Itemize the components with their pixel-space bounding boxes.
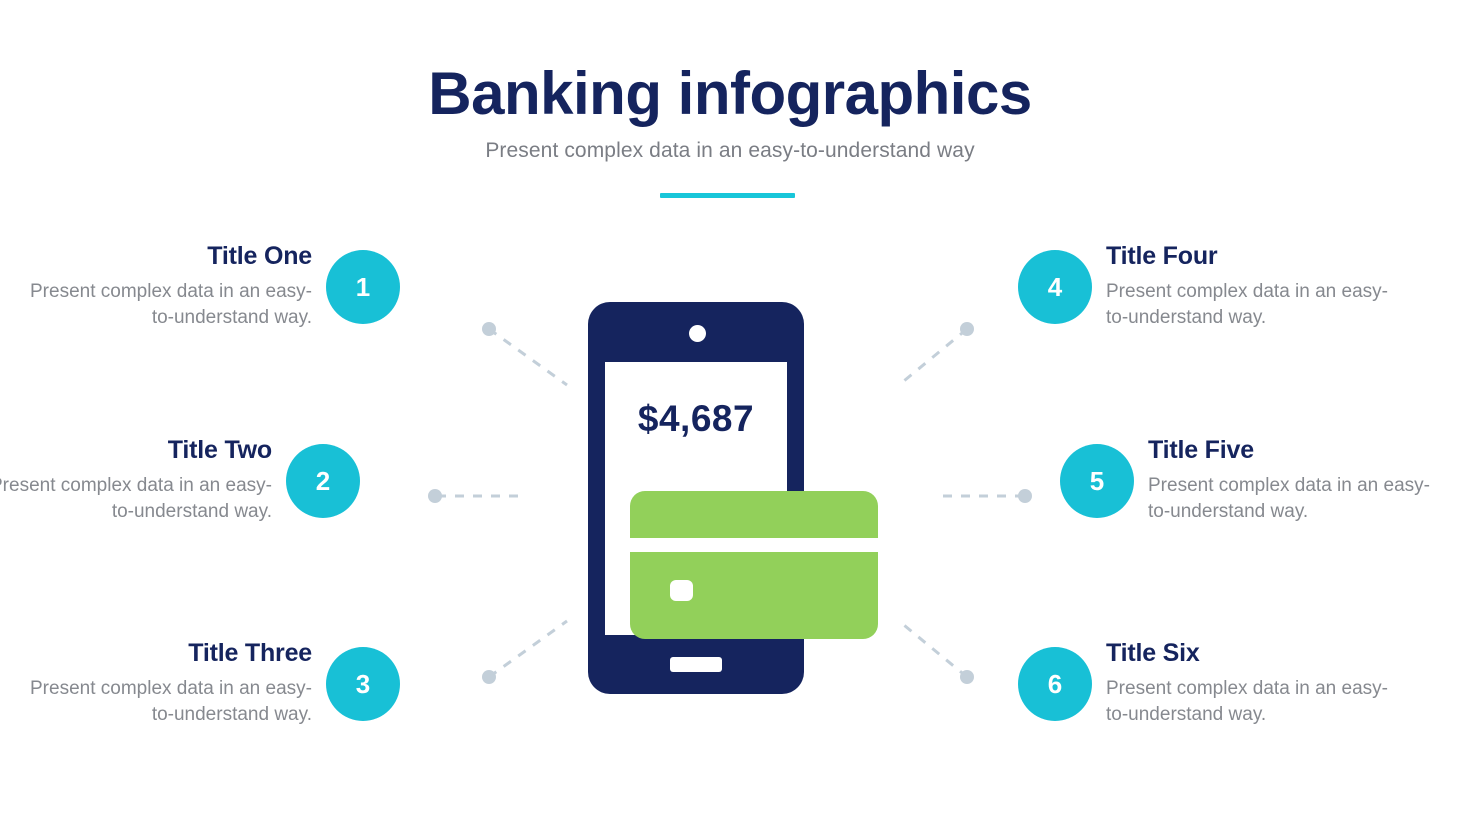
item-5-description: Present complex data in an easy-to-under… [1148, 473, 1448, 525]
balance-amount: $4,687 [605, 398, 787, 440]
connector-dot-3 [482, 670, 496, 684]
page-subtitle: Present complex data in an easy-to-under… [0, 139, 1460, 163]
connector-line-3 [489, 621, 567, 677]
title-underline-rule [660, 193, 795, 198]
connector-dot-4 [960, 322, 974, 336]
item-4-number-badge[interactable]: 4 [1018, 250, 1092, 324]
infographic-slide: Banking infographics Present complex dat… [0, 0, 1460, 821]
phone-home-button [670, 657, 722, 672]
smartphone-card-illustration: $4,687 [588, 302, 878, 694]
page-title: Banking infographics [0, 62, 1460, 125]
item-3-description: Present complex data in an easy-to-under… [12, 676, 312, 728]
connector-dot-2 [428, 489, 442, 503]
infographic-item-3[interactable]: Title Three Present complex data in an e… [0, 640, 400, 728]
phone-speaker-icon [689, 325, 706, 342]
infographic-item-2[interactable]: Title Two Present complex data in an eas… [0, 437, 360, 525]
item-4-description: Present complex data in an easy-to-under… [1106, 279, 1406, 331]
item-3-text-block: Title Three Present complex data in an e… [12, 640, 326, 728]
item-1-text-block: Title One Present complex data in an eas… [12, 243, 326, 331]
infographic-item-6[interactable]: 6 Title Six Present complex data in an e… [1018, 640, 1418, 728]
credit-card-chip-icon [670, 580, 693, 601]
item-6-description: Present complex data in an easy-to-under… [1106, 676, 1406, 728]
connector-dot-5 [1018, 489, 1032, 503]
infographic-item-4[interactable]: 4 Title Four Present complex data in an … [1018, 243, 1418, 331]
item-4-title: Title Four [1106, 243, 1406, 271]
item-1-number-badge[interactable]: 1 [326, 250, 400, 324]
item-3-title: Title Three [12, 640, 312, 668]
infographic-item-5[interactable]: 5 Title Five Present complex data in an … [1060, 437, 1460, 525]
item-6-text-block: Title Six Present complex data in an eas… [1092, 640, 1406, 728]
connector-dot-6 [960, 670, 974, 684]
item-1-title: Title One [12, 243, 312, 271]
connector-line-4 [899, 329, 967, 385]
item-5-number-badge[interactable]: 5 [1060, 444, 1134, 518]
item-2-description: Present complex data in an easy-to-under… [0, 473, 272, 525]
item-6-title: Title Six [1106, 640, 1406, 668]
item-6-number-badge[interactable]: 6 [1018, 647, 1092, 721]
item-5-text-block: Title Five Present complex data in an ea… [1134, 437, 1448, 525]
item-1-description: Present complex data in an easy-to-under… [12, 279, 312, 331]
item-4-text-block: Title Four Present complex data in an ea… [1092, 243, 1406, 331]
connector-dot-1 [482, 322, 496, 336]
connector-line-1 [489, 329, 567, 385]
item-2-text-block: Title Two Present complex data in an eas… [0, 437, 286, 525]
item-2-number-badge[interactable]: 2 [286, 444, 360, 518]
slide-header: Banking infographics Present complex dat… [0, 62, 1460, 163]
infographic-item-1[interactable]: Title One Present complex data in an eas… [0, 243, 400, 331]
credit-card-shape [630, 491, 878, 639]
credit-card-magnetic-stripe [630, 538, 878, 552]
item-5-title: Title Five [1148, 437, 1448, 465]
connector-line-6 [899, 621, 967, 677]
item-2-title: Title Two [0, 437, 272, 465]
item-3-number-badge[interactable]: 3 [326, 647, 400, 721]
